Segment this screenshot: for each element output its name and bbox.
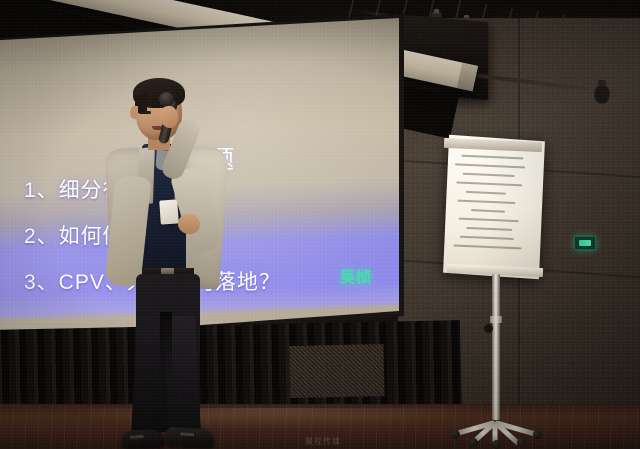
handwriting-line	[457, 200, 515, 205]
shoe-right	[166, 427, 215, 447]
flipchart-easel	[443, 138, 553, 428]
slide-logo: 吴桢	[340, 266, 372, 287]
eyebrow-left	[142, 105, 153, 107]
flipchart-pole	[492, 274, 500, 420]
handwriting-line	[459, 218, 519, 223]
shoe-highlight	[130, 435, 144, 439]
shoe-highlight	[180, 432, 194, 436]
exit-glyph	[579, 240, 591, 246]
ear	[130, 106, 138, 119]
emergency-exit-sign	[574, 236, 596, 250]
handwriting-line	[463, 173, 515, 177]
flipchart-caster	[492, 440, 501, 449]
shoe-left	[121, 429, 164, 449]
flipchart-caster	[469, 438, 478, 447]
eye-left	[143, 111, 151, 114]
presenter	[104, 72, 254, 449]
flipchart-caster	[517, 438, 526, 447]
handwriting-line	[453, 244, 521, 249]
stage-vent-grill	[289, 344, 384, 398]
watermark-text: 聚视传媒	[305, 436, 341, 447]
wall-spotlight-icon	[594, 85, 610, 104]
handwriting-line	[471, 209, 505, 212]
name-badge	[159, 199, 179, 224]
handwriting-line	[460, 236, 514, 240]
flipchart-collar	[490, 316, 502, 323]
handwriting-line	[455, 163, 525, 168]
flipchart-caster	[533, 430, 542, 439]
handwriting-line	[466, 227, 512, 231]
flipchart-handwriting	[451, 154, 532, 269]
flipchart-caster	[451, 430, 460, 439]
trouser-shadow	[160, 312, 172, 382]
flipchart-height-knob[interactable]	[484, 324, 493, 333]
handwriting-line	[466, 191, 506, 195]
handwriting-line	[456, 181, 522, 186]
stage-presentation-photo: 本次议题 1、细分行业 2、如何做 3、CPV、人群如何落地？ 吴桢 聚视传媒	[0, 0, 640, 449]
